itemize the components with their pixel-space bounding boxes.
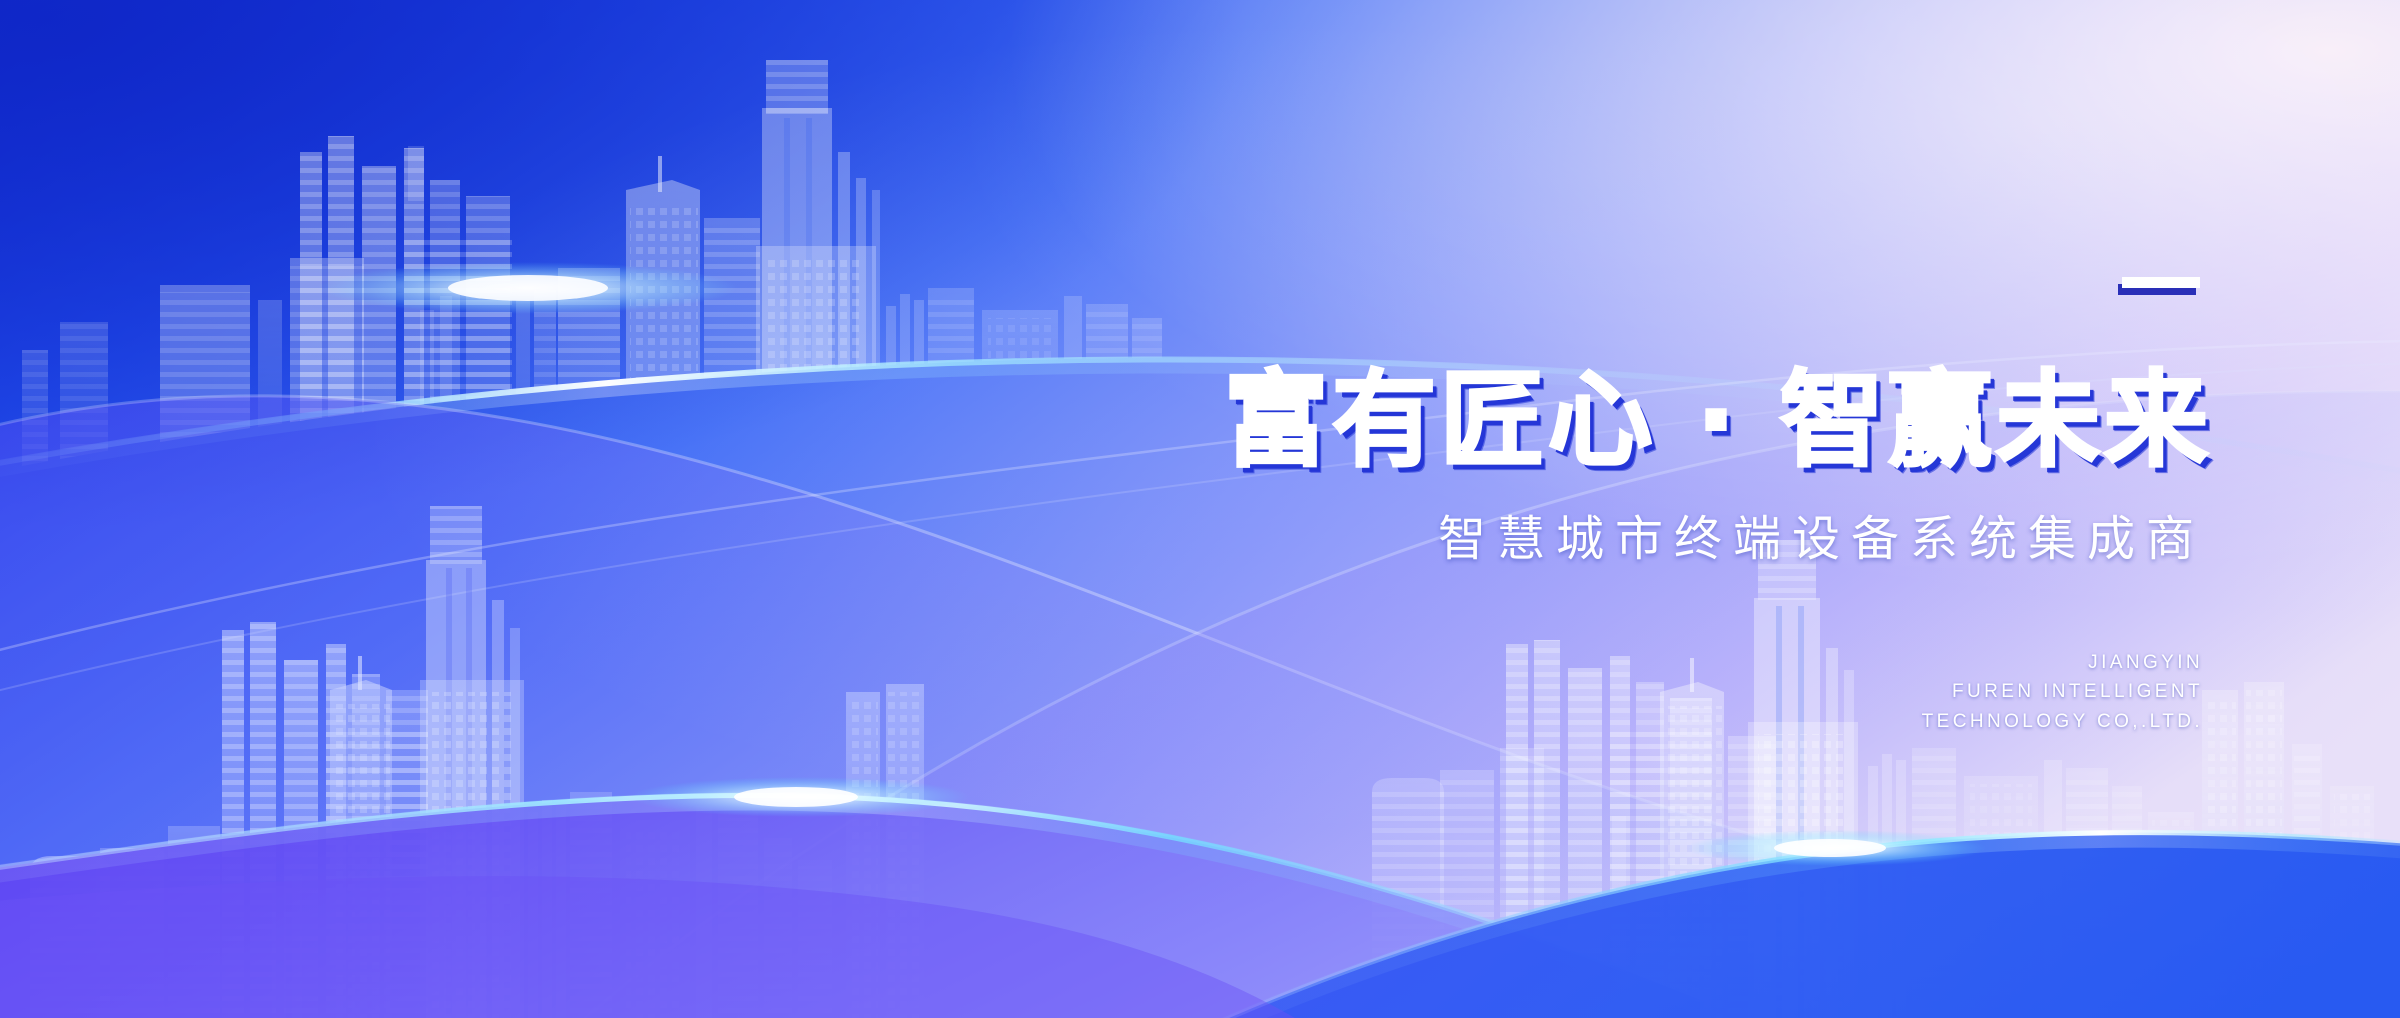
page-subtitle: 智慧城市终端设备系统集成商 <box>0 512 2205 567</box>
company-name-english: JIANGYIN FUREN INTELLIGENT TECHNOLOGY CO… <box>0 648 2203 736</box>
company-line-3: TECHNOLOGY CO,.LTD. <box>0 707 2203 736</box>
company-line-2: FUREN INTELLIGENT <box>0 677 2203 706</box>
accent-dash-decoration <box>2122 277 2200 288</box>
company-line-1: JIANGYIN <box>0 648 2203 677</box>
page-title: 富有匠心 · 智赢未来 <box>0 368 2212 472</box>
soft-light-overlay <box>0 0 2400 1018</box>
banner-root: 富有匠心 · 智赢未来 智慧城市终端设备系统集成商 JIANGYIN FUREN… <box>0 0 2400 1018</box>
